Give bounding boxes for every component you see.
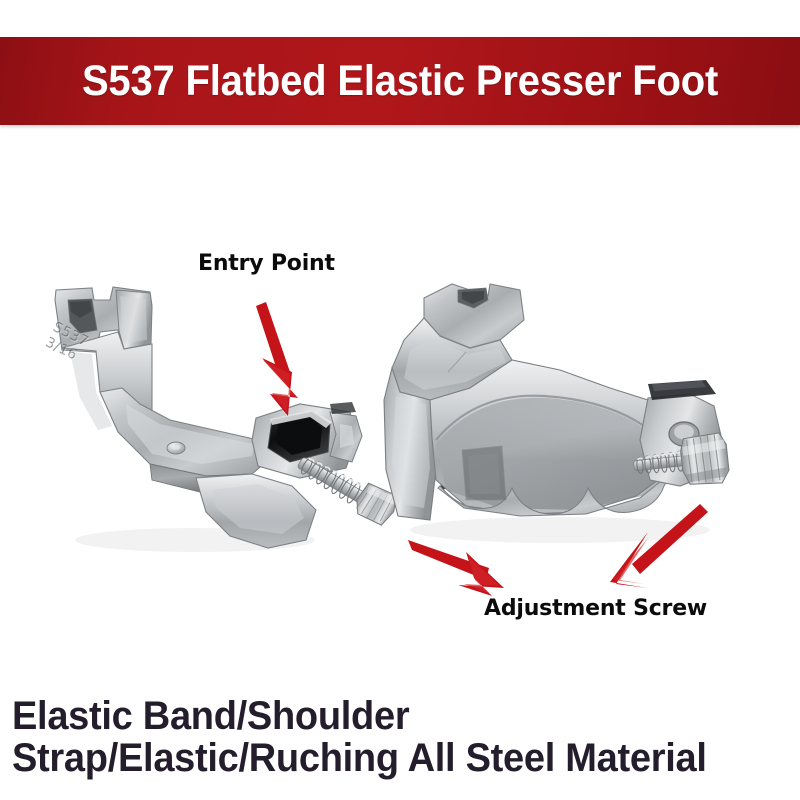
label-entry-point: Entry Point: [198, 251, 335, 276]
arrow-to-left-screw: [408, 540, 504, 596]
arrow-to-right-screw: [610, 504, 708, 588]
arrow-to-entry-point: [256, 302, 298, 416]
footer-line-2: Strap/Elastic/Ruching All Steel Material: [12, 736, 707, 781]
product-image-canvas: S537 Flatbed Elastic Presser Foot: [0, 0, 800, 800]
footer-line-1: Elastic Band/Shoulder: [12, 694, 409, 739]
right-presser-foot: [384, 284, 730, 543]
left-presser-foot: S537 3/16 S537 3/16: [43, 287, 402, 552]
left-foot-guide-tab: [330, 402, 356, 414]
product-illustration: S537 3/16 S537 3/16: [0, 0, 800, 800]
label-adjustment-screw: Adjustment Screw: [484, 596, 707, 621]
